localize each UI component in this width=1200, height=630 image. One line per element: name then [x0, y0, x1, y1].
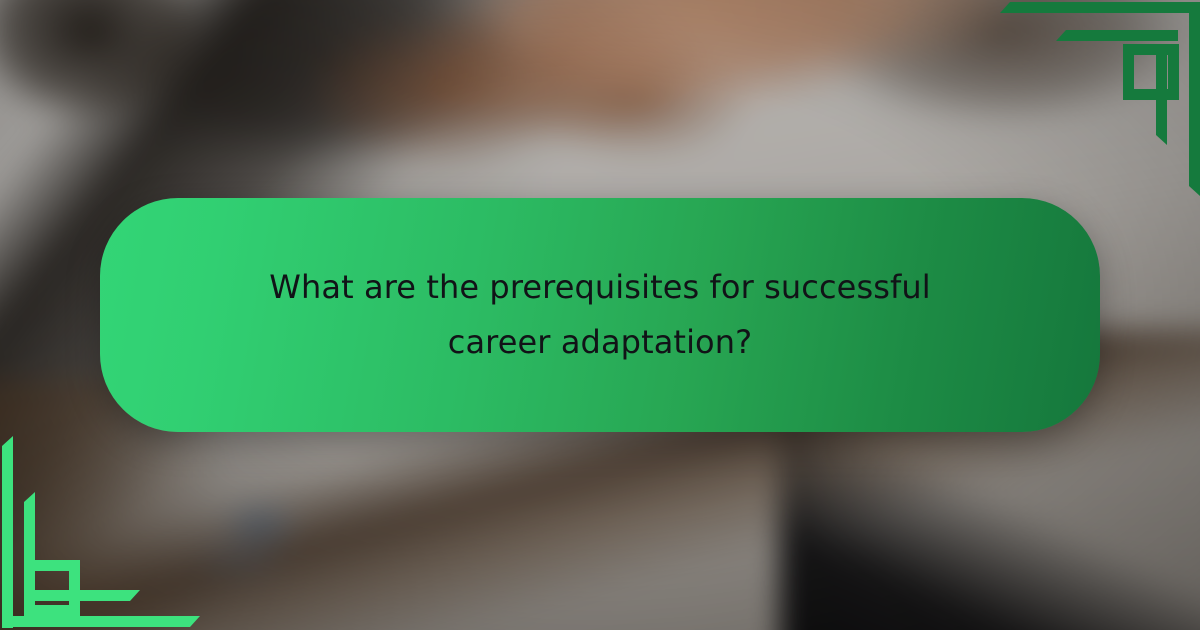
question-card: What are the prerequisites for successfu…	[100, 198, 1100, 432]
question-title: What are the prerequisites for successfu…	[250, 260, 950, 370]
share-card-canvas: What are the prerequisites for successfu…	[0, 0, 1200, 630]
